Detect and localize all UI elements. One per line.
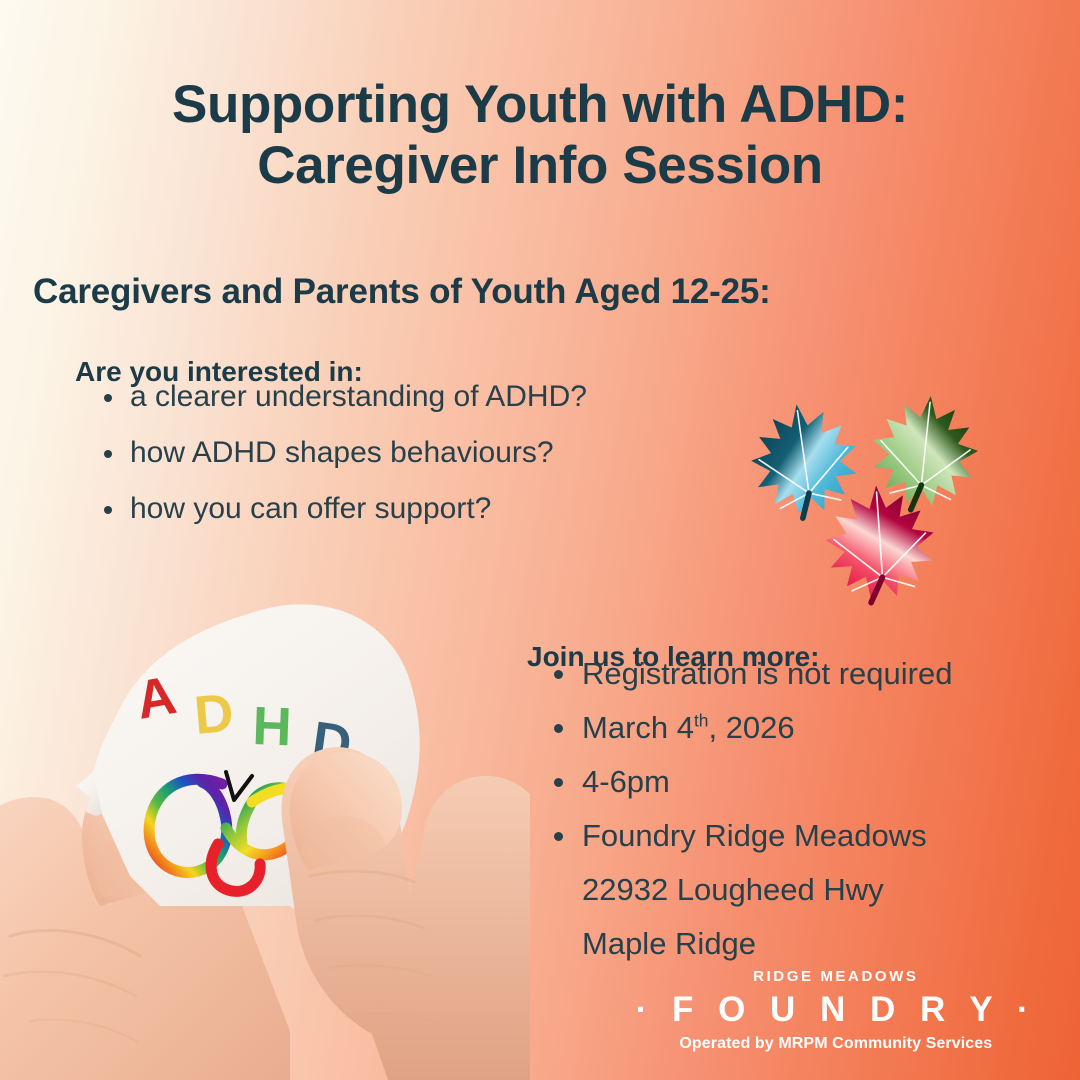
date-text-after: , 2026 [708,710,794,745]
list-item: how you can offer support? [98,494,587,524]
interest-list: a clearer understanding of ADHD? how ADH… [98,382,587,550]
date-text-before: March 4 [582,710,694,745]
list-item-time: 4-6pm [548,766,952,797]
list-item-date: March 4th, 2026 [548,712,952,743]
list-item: how ADHD shapes behaviours? [98,438,587,468]
date-ordinal-suffix: th [694,711,708,731]
title-line-2: Caregiver Info Session [0,135,1080,196]
maple-leaves-decoration [735,385,1025,620]
foundry-logo: RIDGE MEADOWS · F O U N D R Y · Operated… [636,968,1036,1053]
hands-holding-adhd-head-illustration: A D H D [0,576,530,1080]
logo-tagline: Operated by MRPM Community Services [636,1035,1036,1053]
event-details-list: Registration is not required March 4th, … [548,658,952,982]
list-item-venue: Foundry Ridge Meadows [548,820,952,851]
venue-address-line-2: 22932 Lougheed Hwy [548,874,952,905]
poster-canvas: A D H D [0,0,1080,1080]
page-title: Supporting Youth with ADHD: Caregiver In… [0,74,1080,197]
logo-wordmark: · F O U N D R Y · [636,992,1036,1027]
svg-text:D: D [192,683,236,746]
list-item-registration: Registration is not required [548,658,952,689]
audience-subheading: Caregivers and Parents of Youth Aged 12-… [33,272,771,312]
venue-address-line-3: Maple Ridge [548,928,952,959]
svg-text:H: H [252,696,293,757]
blue-maple-leaf [744,397,864,524]
title-line-1: Supporting Youth with ADHD: [172,75,908,134]
logo-region-label: RIDGE MEADOWS [636,968,1036,985]
list-item: a clearer understanding of ADHD? [98,382,587,412]
green-maple-leaf [866,390,983,516]
